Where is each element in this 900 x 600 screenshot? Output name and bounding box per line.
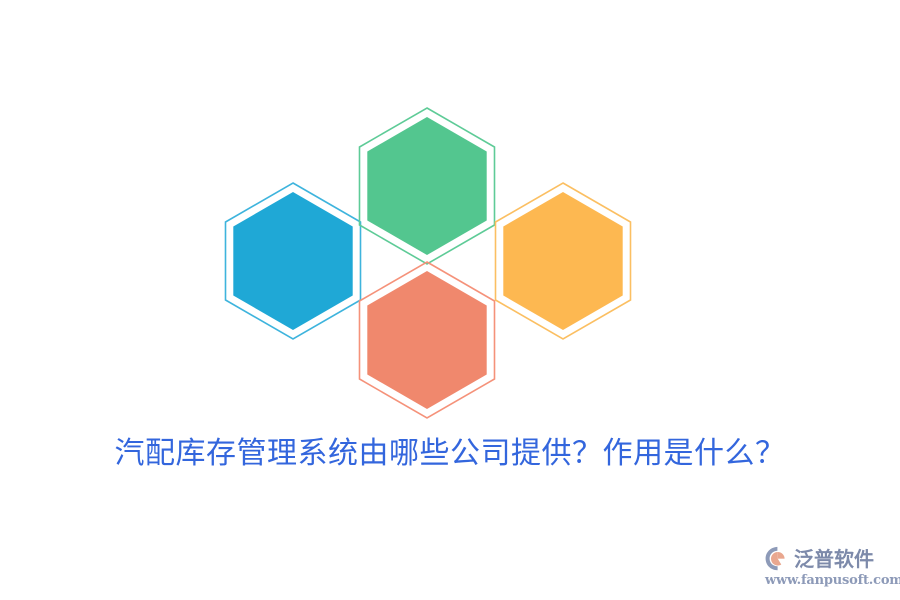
hexagon-blue-fill	[233, 192, 352, 330]
brand-website: www.fanpusoft.com	[765, 573, 900, 588]
brand-name: 泛普软件	[794, 547, 874, 571]
brand-logo: 泛普软件 www.fanpusoft.com	[764, 545, 888, 588]
hexagon-green	[360, 108, 495, 264]
page-title: 汽配库存管理系统由哪些公司提供？作用是什么？	[0, 430, 900, 478]
hexagon-orange	[496, 183, 631, 339]
hexagon-salmon	[360, 262, 495, 418]
fanpu-swoosh-icon	[764, 545, 791, 572]
hexagon-blue	[226, 183, 361, 339]
brand-logo-row: 泛普软件	[764, 545, 874, 572]
hexagon-salmon-fill	[367, 271, 486, 409]
hexagon-cluster-svg	[0, 0, 900, 430]
hexagon-orange-fill	[503, 192, 622, 330]
hexagon-green-fill	[367, 117, 486, 255]
page-canvas: 汽配库存管理系统由哪些公司提供？作用是什么？ 泛普软件 www.fanpusof…	[0, 0, 900, 600]
hexagon-cluster-graphic	[0, 0, 900, 430]
